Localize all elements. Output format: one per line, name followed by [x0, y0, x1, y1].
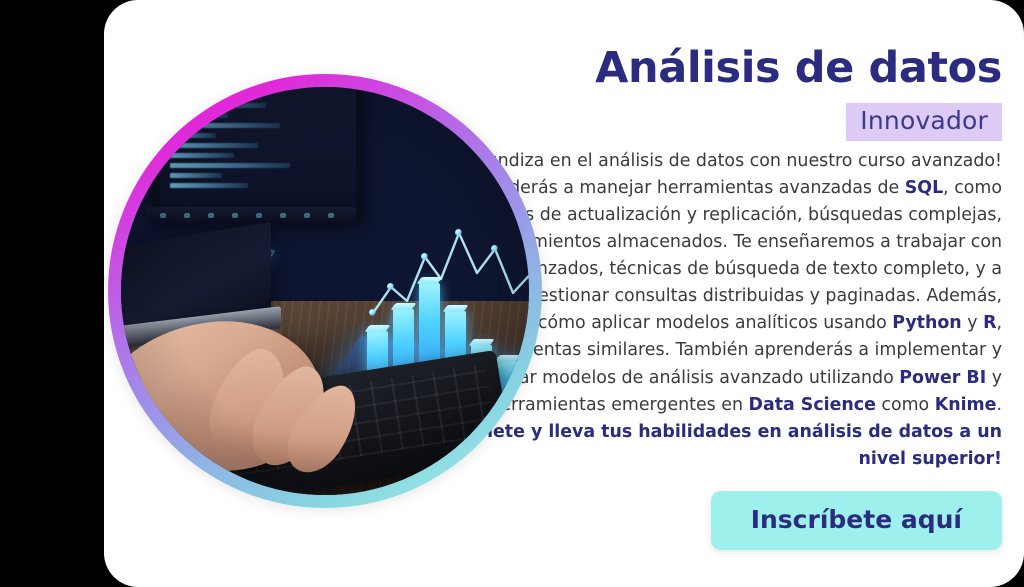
- term-sql: SQL: [905, 178, 943, 198]
- desc-segment-7: .: [996, 395, 1002, 415]
- level-badge: Innovador: [846, 103, 1002, 141]
- course-promo-banner: Análisis de datos Innovador ¡Profundiza …: [0, 0, 1024, 587]
- desc-segment-3: y: [962, 313, 983, 333]
- enroll-button[interactable]: Inscríbete aquí: [711, 491, 1002, 550]
- course-photo: [121, 87, 529, 495]
- term-data-science: Data Science: [749, 395, 876, 415]
- term-knime: Knime: [935, 395, 997, 415]
- cta-row: Inscríbete aquí: [426, 491, 1002, 550]
- term-power-bi: Power BI: [899, 368, 986, 388]
- page-title: Análisis de datos: [426, 45, 1002, 91]
- closing-call-to-action: ¡Únete y lleva tus habilidades en anális…: [459, 422, 1002, 469]
- term-python: Python: [892, 313, 961, 333]
- promo-card: Análisis de datos Innovador ¡Profundiza …: [104, 0, 1024, 587]
- photo-gradient-ring: [108, 74, 542, 508]
- photo-vignette: [121, 87, 529, 495]
- desc-segment-6: como: [876, 395, 935, 415]
- term-r: R: [983, 313, 996, 333]
